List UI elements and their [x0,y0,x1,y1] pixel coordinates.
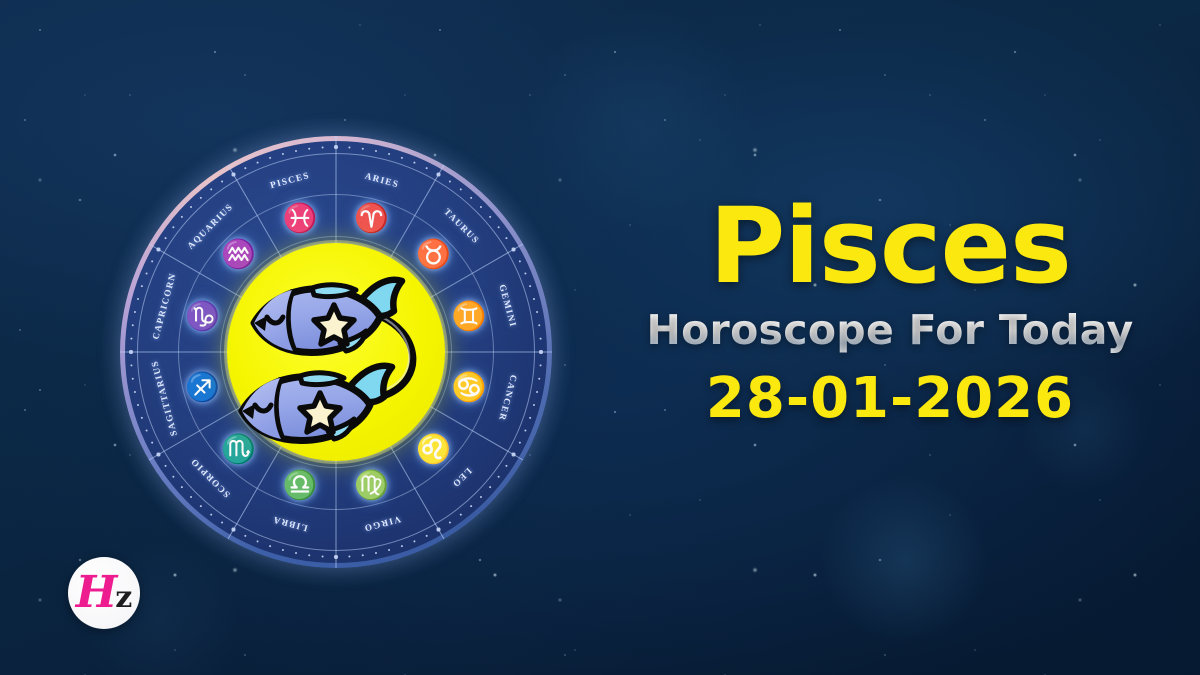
wheel-tick [141,285,143,287]
wheel-tick [536,311,538,313]
wheel-tick [145,272,147,274]
wheel-tick [505,465,507,467]
wheel-tick [282,153,284,155]
wheel-tick [151,441,153,443]
wheel-tick [524,429,526,431]
wheel-tick [137,298,139,300]
logo-letter-z: z [115,583,132,613]
wheel-tick [401,545,403,547]
wheel-tick [145,429,147,431]
wheel-sign-glyph-text: ♊ [447,302,491,330]
wheel-sign-glyph-text: ♋ [447,374,491,402]
wheel-sign-glyph-text: ♈ [350,205,394,233]
wheel-tick [130,364,132,366]
wheel-tick [489,486,491,488]
wheel-tick [308,148,310,150]
wheel-tick [269,545,271,547]
wheel-tick [321,555,323,557]
wheel-tick [539,337,541,339]
wheel-tick [181,216,183,218]
wheel-tick [200,505,202,507]
wheel-tick [256,540,258,542]
wheel-tick [529,417,531,419]
wheel-tick [529,285,531,287]
wheel-tick [132,324,134,326]
wheel-tick [308,554,310,556]
wheel-tick [295,150,297,152]
wheel-tick [375,150,377,152]
wheel-tick [181,486,183,488]
wheel-tick [348,146,350,148]
wheel-tick [536,391,538,393]
wheel-tick [519,441,521,443]
wheel-tick [413,161,415,163]
wheel-tick [497,476,499,478]
headline-block: Pisces Horoscope For Today 28-01-2026 [600,196,1180,431]
wheel-tick [538,378,540,380]
wheel-tick [505,237,507,239]
wheel-tick [388,549,390,551]
wheel-tick [470,505,472,507]
wheel-sign-glyph-text: ♓ [278,205,322,233]
zodiac-wheel: PISCESARIESTAURUSGEMINICANCERLEOVIRGOLIB… [120,136,552,568]
wheel-tick [130,337,132,339]
wheel-tick [282,549,284,551]
wheel-tick [539,364,541,366]
wheel-tick [210,513,212,515]
wheel-tick [256,161,258,163]
wheel-tick [269,157,271,159]
wheel-tick [172,476,174,478]
wheel-tick [221,521,223,523]
wheel-tick [375,552,377,554]
brand-logo[interactable]: Hz [68,557,140,629]
wheel-tick [151,260,153,262]
wheel-tick [519,260,521,262]
wheel-tick [295,552,297,554]
wheel-tick [497,226,499,228]
wheel-tick [480,206,482,208]
wheel-tick [388,153,390,155]
wheel-tick [172,226,174,228]
wheel-tick [533,404,535,406]
wheel-tick [137,404,139,406]
wheel-tick [190,496,192,498]
wheel-tick [489,216,491,218]
wheel-tick [210,188,212,190]
poster-canvas: PISCESARIESTAURUSGEMINICANCERLEOVIRGOLIB… [0,0,1200,675]
wheel-sign-glyph-text: ♍ [350,471,394,499]
wheel-tick [164,237,166,239]
wheel-tick [164,465,166,467]
wheel-tick [413,540,415,542]
wheel-tick [221,180,223,182]
wheel-tick [134,391,136,393]
wheel-tick [480,496,482,498]
wheel-tick [244,535,246,537]
wheel-tick [134,311,136,313]
wheel-tick [244,167,246,169]
wheel-tick [533,298,535,300]
wheel-sign-glyph-text: ♑ [181,302,225,330]
wheel-tick [460,188,462,190]
wheel-tick [425,535,427,537]
wheel-sign-glyph-text: ♎ [278,471,322,499]
headline-subtitle: Horoscope For Today [600,306,1180,354]
wheel-tick [470,197,472,199]
wheel-tick [449,180,451,182]
wheel-tick [449,521,451,523]
two-fish-icon [234,259,438,445]
headline-date: 28-01-2026 [600,366,1180,431]
page-title: Pisces [600,196,1180,298]
wheel-tick [190,206,192,208]
logo-letter-h: H [76,571,118,615]
wheel-tick [141,417,143,419]
wheel-tick [460,513,462,515]
wheel-tick [362,554,364,556]
wheel-tick [132,378,134,380]
wheel-tick [538,324,540,326]
wheel-sign-glyph-text: ♐ [181,374,225,402]
wheel-tick [321,146,323,148]
wheel-tick [401,157,403,159]
wheel-tick [362,148,364,150]
wheel-tick [348,555,350,557]
wheel-tick [524,272,526,274]
logo-wordmark: Hz [76,571,133,615]
wheel-tick [425,167,427,169]
wheel-tick [200,197,202,199]
